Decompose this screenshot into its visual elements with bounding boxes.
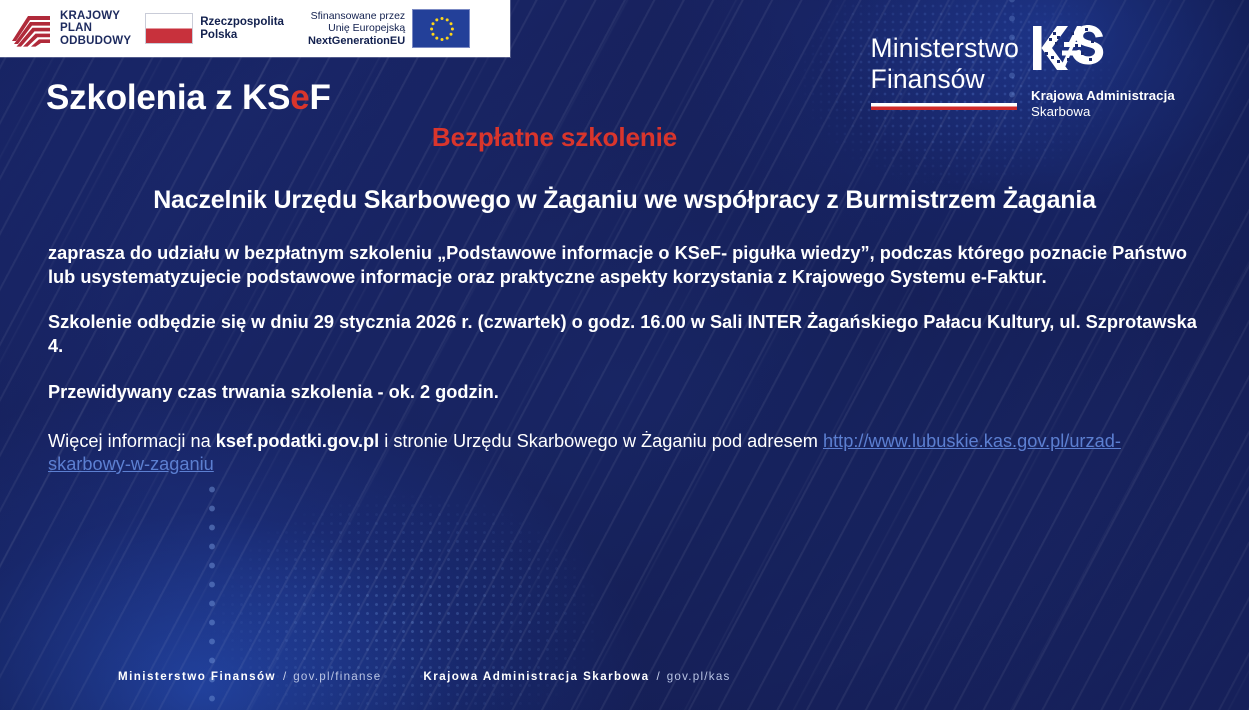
eu-line-3: NextGenerationEU [308, 35, 405, 47]
kpo-line-1: KRAJOWY [60, 10, 131, 23]
kas-label: Krajowa Administracja Skarbowa [1031, 88, 1231, 119]
free-training-badge: Bezpłatne szkolenie [0, 122, 1249, 153]
footer-ministry-slash: / [276, 670, 293, 683]
more-info-prefix: Więcej informacji na [48, 431, 216, 451]
eu-flag-icon [412, 9, 470, 48]
poland-line-2: Polska [200, 29, 284, 42]
lead-heading: Naczelnik Urzędu Skarbowego w Żaganiu we… [0, 186, 1249, 215]
paragraph-duration: Przewidywany czas trwania szkolenia - ok… [48, 381, 1198, 405]
ministry-name-line-2: Finansów [871, 64, 1019, 95]
page-title-suffix: F [309, 78, 330, 117]
eu-line-1: Sfinansowane przez [308, 10, 405, 22]
footer-ministry-label: Ministerstwo Finansów [118, 670, 276, 683]
paragraph-when: Szkolenie odbędzie się w dniu 29 styczni… [48, 311, 1198, 358]
more-info-middle: i stronie Urzędu Skarbowego w Żaganiu po… [379, 431, 823, 451]
poland-line-1: Rzeczpospolita [200, 16, 284, 29]
kpo-line-2: PLAN [60, 22, 131, 35]
kas-logo: Krajowa Administracja Skarbowa [1031, 22, 1231, 119]
kpo-label: KRAJOWY PLAN ODBUDOWY [60, 10, 131, 48]
page-title-accent: e [290, 78, 309, 117]
body-copy: zaprasza do udziału w bezpłatnym szkolen… [48, 242, 1198, 477]
eu-funding-logo: Sfinansowane przez Unię Europejską NextG… [292, 0, 470, 57]
footer-kas-slash: / [649, 670, 666, 683]
footer: Ministerstwo Finansów / gov.pl/finanse K… [118, 670, 731, 683]
polish-flag-rule-icon [871, 103, 1017, 110]
kpo-building-icon [10, 11, 52, 47]
footer-kas-url[interactable]: gov.pl/kas [667, 670, 731, 683]
kas-monogram-icon [1031, 22, 1107, 76]
ksef-site-label: ksef.podatki.gov.pl [216, 431, 379, 451]
kpo-line-3: ODBUDOWY [60, 35, 131, 48]
eu-funding-label: Sfinansowane przez Unię Europejską NextG… [308, 10, 405, 47]
poland-logo: Rzeczpospolita Polska [145, 0, 284, 57]
paragraph-more-info: Więcej informacji na ksef.podatki.gov.pl… [48, 430, 1198, 477]
ministry-name-line-1: Ministerstwo [871, 33, 1019, 64]
poland-label: Rzeczpospolita Polska [200, 16, 284, 42]
eu-funding-banner: KRAJOWY PLAN ODBUDOWY Rzeczpospolita Pol… [0, 0, 510, 57]
kpo-logo: KRAJOWY PLAN ODBUDOWY [0, 0, 131, 57]
page-title-prefix: Szkolenia z KS [46, 78, 290, 117]
kas-name-line-1: Krajowa Administracja [1031, 88, 1175, 103]
slide-poster: KRAJOWY PLAN ODBUDOWY Rzeczpospolita Pol… [0, 0, 1249, 710]
eu-line-2: Unię Europejską [308, 22, 405, 34]
page-title: Szkolenia z KSeF [46, 78, 331, 118]
paragraph-invitation: zaprasza do udziału w bezpłatnym szkolen… [48, 242, 1198, 289]
footer-ministry-url[interactable]: gov.pl/finanse [293, 670, 381, 683]
footer-kas-label: Krajowa Administracja Skarbowa [423, 670, 649, 683]
polish-flag-icon [145, 13, 193, 44]
ministry-of-finance-logo: Ministerstwo Finansów [871, 33, 1019, 110]
kas-name-line-2: Skarbowa [1031, 104, 1231, 120]
